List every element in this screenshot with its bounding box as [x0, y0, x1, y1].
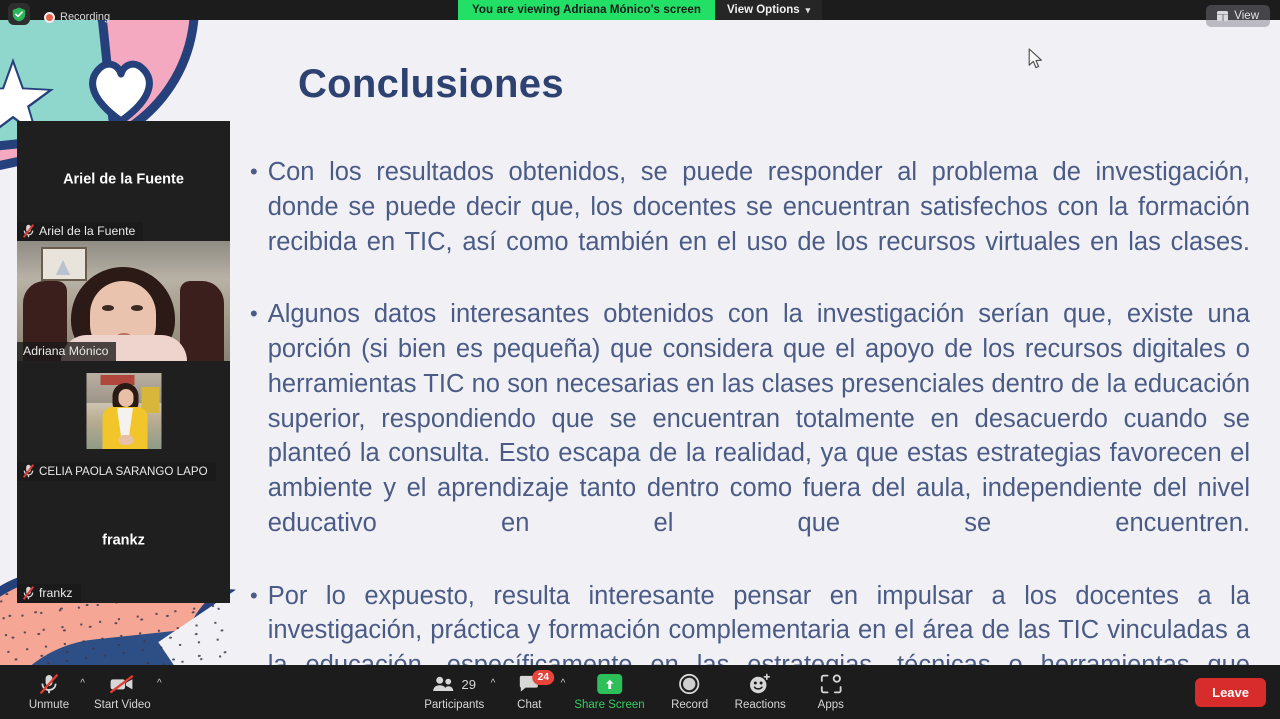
blue-swoosh-decoration: [0, 621, 285, 665]
slide-bullet: • Algunos datos interesantes obtenidos c…: [250, 297, 1250, 575]
slide-body: • Con los resultados obtenidos, se puede…: [250, 155, 1250, 665]
record-label: Record: [671, 699, 708, 711]
mic-muted-icon: [23, 224, 34, 238]
microphone-muted-icon: [38, 673, 60, 695]
record-icon: [679, 673, 701, 695]
leave-button[interactable]: Leave: [1195, 678, 1266, 707]
bullet-text: Con los resultados obtenidos, se puede r…: [268, 155, 1250, 294]
participant-label-text: frankz: [39, 586, 73, 600]
participants-button[interactable]: 29 ^ Participants: [414, 665, 494, 719]
participant-display-name: frankz: [17, 532, 230, 548]
bullet-marker: •: [250, 579, 258, 665]
toolbar-center-group: 29 ^ Participants 24 ^ Chat: [414, 665, 866, 719]
view-layout-button[interactable]: View: [1206, 5, 1270, 27]
bullet-marker: •: [250, 297, 258, 575]
shield-check-icon[interactable]: [8, 3, 30, 25]
apps-button[interactable]: Apps: [796, 665, 866, 719]
mouse-cursor: [1028, 48, 1044, 75]
chevron-down-icon: ▾: [806, 5, 811, 16]
chat-unread-badge: 24: [532, 670, 554, 685]
apps-label: Apps: [818, 699, 844, 711]
participant-tile-active-speaker[interactable]: Adriana Mónico: [17, 241, 230, 361]
share-screen-label: Share Screen: [574, 699, 644, 711]
bullet-marker: •: [250, 155, 258, 294]
apps-icon: [820, 673, 842, 695]
participant-filmstrip[interactable]: Ariel de la Fuente Ariel de la Fuente: [17, 121, 230, 603]
heart-icon: [84, 55, 158, 125]
participant-label-text: CELIA PAOLA SARANGO LAPO: [39, 465, 208, 478]
bullet-text: Algunos datos interesantes obtenidos con…: [268, 297, 1250, 575]
slide-bullet: • Con los resultados obtenidos, se puede…: [250, 155, 1250, 294]
recording-label: Recording: [60, 11, 110, 23]
avatar: [86, 373, 161, 449]
view-options-label: View Options: [727, 4, 800, 16]
participant-display-name: Ariel de la Fuente: [17, 171, 230, 187]
start-video-button[interactable]: ^ Start Video: [84, 665, 161, 719]
unmute-button[interactable]: ^ Unmute: [14, 665, 84, 719]
view-button-label: View: [1234, 10, 1259, 22]
camera-off-icon: [109, 673, 135, 695]
toolbar-right-group: Leave: [1195, 665, 1266, 719]
participants-label: Participants: [424, 699, 484, 711]
participant-tile[interactable]: frankz frankz: [17, 481, 230, 603]
reactions-icon: [749, 673, 772, 695]
participant-tile[interactable]: CELIA PAOLA SARANGO LAPO: [17, 361, 230, 481]
view-options-button[interactable]: View Options ▾: [715, 0, 822, 20]
share-screen-button[interactable]: Share Screen: [564, 665, 654, 719]
participant-name-label: frankz: [17, 584, 81, 603]
viewing-banner-text: You are viewing Adriana Mónico's screen: [458, 0, 715, 20]
unmute-label: Unmute: [29, 699, 69, 711]
start-video-label: Start Video: [94, 699, 151, 711]
mic-muted-icon: [23, 586, 34, 600]
participant-name-label: CELIA PAOLA SARANGO LAPO: [17, 462, 216, 481]
grid-icon: [1217, 11, 1228, 21]
participant-tile[interactable]: Ariel de la Fuente Ariel de la Fuente: [17, 121, 230, 241]
participants-count: 29: [462, 677, 476, 692]
recording-indicator[interactable]: Recording: [44, 11, 110, 23]
mic-muted-icon: [23, 464, 34, 478]
slide-title: Conclusiones: [298, 62, 564, 107]
chat-button[interactable]: 24 ^ Chat: [494, 665, 564, 719]
participant-name-label: Adriana Mónico: [17, 342, 116, 361]
participant-name-label: Ariel de la Fuente: [17, 222, 143, 241]
participant-label-text: Adriana Mónico: [23, 344, 108, 358]
reactions-button[interactable]: Reactions: [725, 665, 796, 719]
participants-icon: 29: [433, 673, 476, 695]
screen-share-banner: You are viewing Adriana Mónico's screen …: [458, 0, 822, 20]
meeting-toolbar: ^ Unmute ^ Start Video: [0, 665, 1280, 719]
zoom-meeting-window: Conclusiones • Con los resultados obteni…: [0, 0, 1280, 719]
reactions-label: Reactions: [735, 699, 786, 711]
participant-label-text: Ariel de la Fuente: [39, 224, 135, 238]
chat-label: Chat: [517, 699, 541, 711]
share-screen-icon: [597, 673, 622, 695]
record-dot-icon: [44, 12, 55, 23]
video-options-chevron-icon[interactable]: ^: [157, 679, 162, 689]
chat-icon: 24: [518, 673, 540, 695]
bullet-text: Por lo expuesto, resulta interesante pen…: [268, 579, 1250, 665]
slide-bullet: • Por lo expuesto, resulta interesante p…: [250, 579, 1250, 665]
toolbar-left-group: ^ Unmute ^ Start Video: [14, 665, 161, 719]
record-button[interactable]: Record: [655, 665, 725, 719]
